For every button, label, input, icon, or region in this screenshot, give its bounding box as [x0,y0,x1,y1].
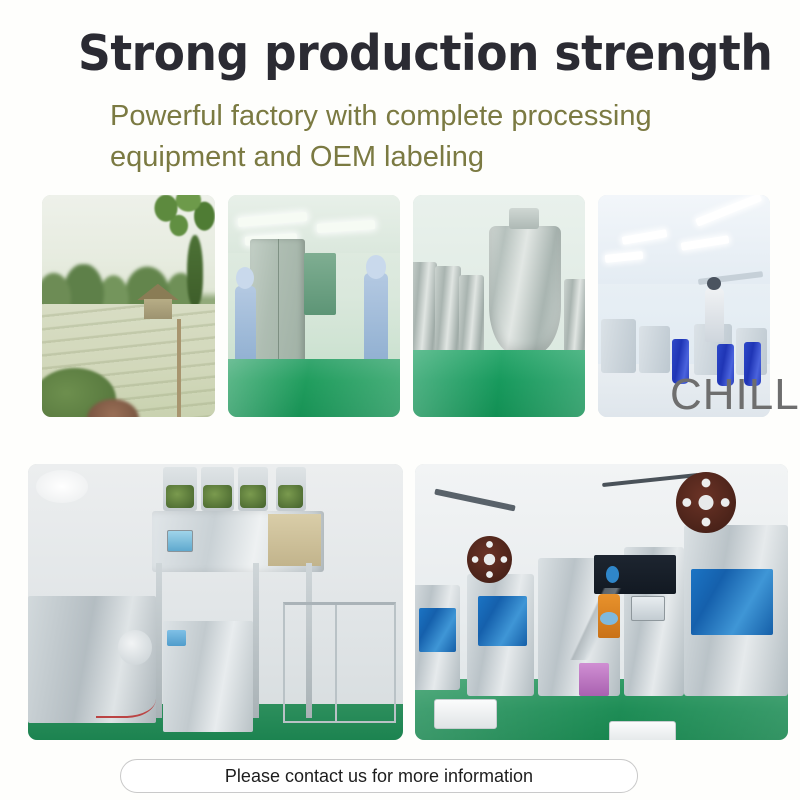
photo-extraction-tanks-image [413,195,585,417]
storage-column-shape [564,279,585,354]
control-screen-shape [167,530,193,552]
green-epoxy-floor [228,359,400,417]
wall-panel-shape [304,253,337,315]
photo-extraction-tanks [413,195,585,417]
machine-shape [601,319,635,372]
red-cable-shape [96,679,156,718]
tea-hopper-shape [201,467,235,511]
control-screen-shape [631,596,665,621]
stainless-cabinet-shape [250,239,305,368]
blue-panel-shape [478,596,526,646]
gazebo-shape [137,284,179,320]
support-frame-shape [156,563,162,718]
storage-column-shape [435,266,461,355]
storage-column-shape [413,262,437,355]
steel-rack-shape [283,602,396,723]
film-roll-shape [118,630,152,666]
blue-panel-shape [419,608,456,652]
fence-pole-shape [177,319,181,417]
tea-hopper-shape [238,467,268,511]
contact-us-button[interactable]: Please contact us for more information [120,759,638,793]
photo-teabag-line-image [415,464,788,740]
panel-shape [268,514,321,566]
page-title: Strong production strength [78,26,710,82]
control-buttons-shape [628,627,669,638]
photo-tea-plantation [42,195,215,417]
photo-production-hall-image [598,195,770,417]
storage-column-shape [459,275,483,355]
white-crate-shape [609,721,676,740]
photo-tea-plantation-image [42,195,215,417]
worker-figure [364,273,388,371]
tea-hopper-shape [163,467,197,511]
film-reel-shape [467,536,512,583]
photo-cleanroom [228,195,400,417]
photo-packing-machine-image [28,464,403,740]
machine-shape [639,326,670,373]
photo-teabag-line [415,464,788,740]
worker-figure [598,594,620,638]
purple-bin-shape [579,663,609,696]
promo-banner: Strong production strength Powerful fact… [0,0,800,800]
blue-barrel-shape [744,342,761,386]
photo-packing-machine [28,464,403,740]
light-glare [36,470,89,503]
worker-figure [705,288,724,341]
film-reel-shape [676,472,736,533]
extraction-tank-shape [489,226,561,355]
blue-barrel-shape [672,339,689,383]
blue-barrel-shape [717,344,734,386]
white-crate-shape [434,699,497,729]
tea-hopper-shape [276,467,306,511]
blue-panel-shape [691,569,773,635]
photo-production-hall [598,195,770,417]
worker-figure [235,286,256,370]
blue-control-panel-shape [167,630,186,647]
page-subtitle: Powerful factory with complete processin… [110,96,750,178]
foliage-overlay-shape [142,195,215,255]
photo-cleanroom-image [228,195,400,417]
green-epoxy-floor [413,350,585,417]
